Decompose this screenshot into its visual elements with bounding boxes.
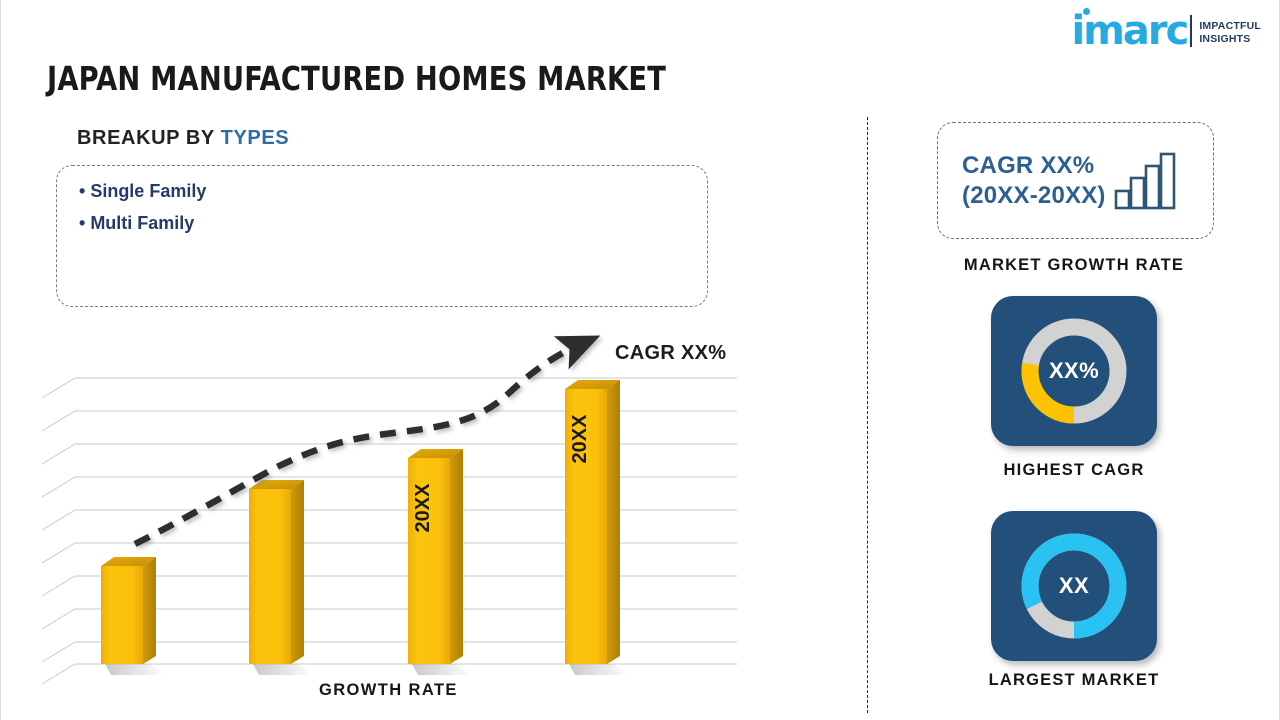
panel-divider [867,117,868,713]
largest-market-card: XX [991,511,1157,661]
bar-column [249,480,304,664]
bar-column: 20XX [408,449,463,664]
highest-cagr-card: XX% [991,296,1157,446]
list-item: •Multi Family [79,214,707,232]
market-growth-rate-label: MARKET GROWTH RATE [867,256,1280,275]
bullet-icon: • [79,181,85,201]
bullet-icon: • [79,213,85,233]
highest-cagr-value: XX% [1049,358,1099,384]
list-item-label: Multi Family [90,213,194,233]
subtitle-accent: TYPES [221,127,290,149]
brand-name: imarc [1071,8,1187,54]
growth-rate-bar-chart: 20XX 20XX [31,331,791,711]
bar-floor-shadows [105,664,629,675]
section-subtitle: BREAKUP BY TYPES [77,127,289,150]
cagr-box-text: CAGR XX% (20XX-20XX) [962,151,1106,211]
ascending-bars-icon [1114,152,1176,215]
breakup-types-box: •Single Family •Multi Family [56,165,708,307]
market-growth-rate-box: CAGR XX% (20XX-20XX) [937,122,1214,239]
highest-cagr-label: HIGHEST CAGR [867,461,1280,480]
list-item: •Single Family [79,182,707,200]
subtitle-prefix: BREAKUP BY [77,127,221,149]
list-item-label: Single Family [90,181,206,201]
logo-divider [1190,15,1192,47]
bar-value-label: 20XX [412,483,434,533]
brand-wordmark: imarc [1071,13,1187,49]
chart-x-axis-title: GROWTH RATE [319,681,458,700]
brand-tagline: IMPACTFUL INSIGHTS [1199,20,1261,46]
largest-market-value: XX [1059,573,1089,599]
imarc-logo: imarc IMPACTFUL INSIGHTS [1071,13,1261,49]
cagr-trend-label: CAGR XX% [615,342,726,365]
bar-value-label: 20XX [569,414,591,464]
cagr-period-line: (20XX-20XX) [962,181,1106,211]
largest-market-label: LARGEST MARKET [867,671,1280,690]
page-title: JAPAN MANUFACTURED HOMES MARKET [47,59,666,98]
tagline-line-1: IMPACTFUL [1199,20,1261,33]
bar-column [101,557,156,664]
tagline-line-2: INSIGHTS [1199,33,1261,46]
cagr-value-line: CAGR XX% [962,151,1106,181]
slide-canvas: imarc IMPACTFUL INSIGHTS JAPAN MANUFACTU… [0,0,1280,720]
bar-column: 20XX [565,380,620,664]
chart-svg: 20XX 20XX [31,331,791,711]
